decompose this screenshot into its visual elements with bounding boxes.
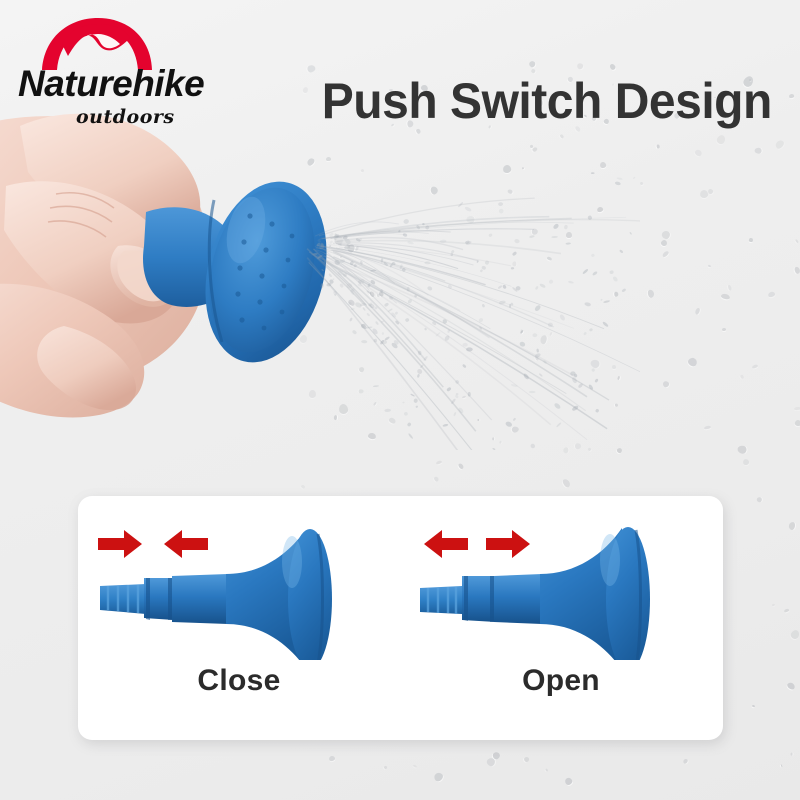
- stem-body: [172, 574, 228, 624]
- arrow-left-icon: [424, 530, 468, 558]
- water-spray-droplets: [313, 172, 636, 450]
- panel-open: Open: [400, 496, 722, 740]
- bell-gloss: [282, 536, 302, 588]
- product-marketing-image: Naturehike outdoors Push Switch Design: [0, 0, 800, 800]
- bell-gloss: [600, 534, 620, 586]
- arrow-left-icon: [164, 530, 208, 558]
- panel-label-open: Open: [400, 664, 722, 698]
- collar-groove-right: [490, 576, 494, 622]
- water-spray-streaks: [307, 198, 640, 450]
- panel-label-close: Close: [78, 664, 400, 698]
- hero-illustration: [0, 90, 640, 450]
- collar-groove-left: [146, 578, 150, 620]
- arrow-right-icon: [486, 530, 530, 558]
- close-state-illustration: [78, 510, 400, 660]
- state-comparison-card: Close: [78, 496, 723, 740]
- stem-body: [494, 574, 542, 624]
- page-title: Push Switch Design: [322, 72, 772, 130]
- arrow-right-icon: [98, 530, 142, 558]
- hero-product-photo: [0, 90, 640, 450]
- brand-name: Naturehike: [18, 63, 204, 105]
- collar-groove-right: [168, 578, 172, 620]
- open-state-illustration: [400, 510, 722, 660]
- panel-close: Close: [78, 496, 400, 740]
- brand-logo: Naturehike outdoors: [18, 16, 198, 136]
- collar-groove-left: [464, 576, 468, 621]
- brand-tagline: outdoors: [76, 106, 175, 128]
